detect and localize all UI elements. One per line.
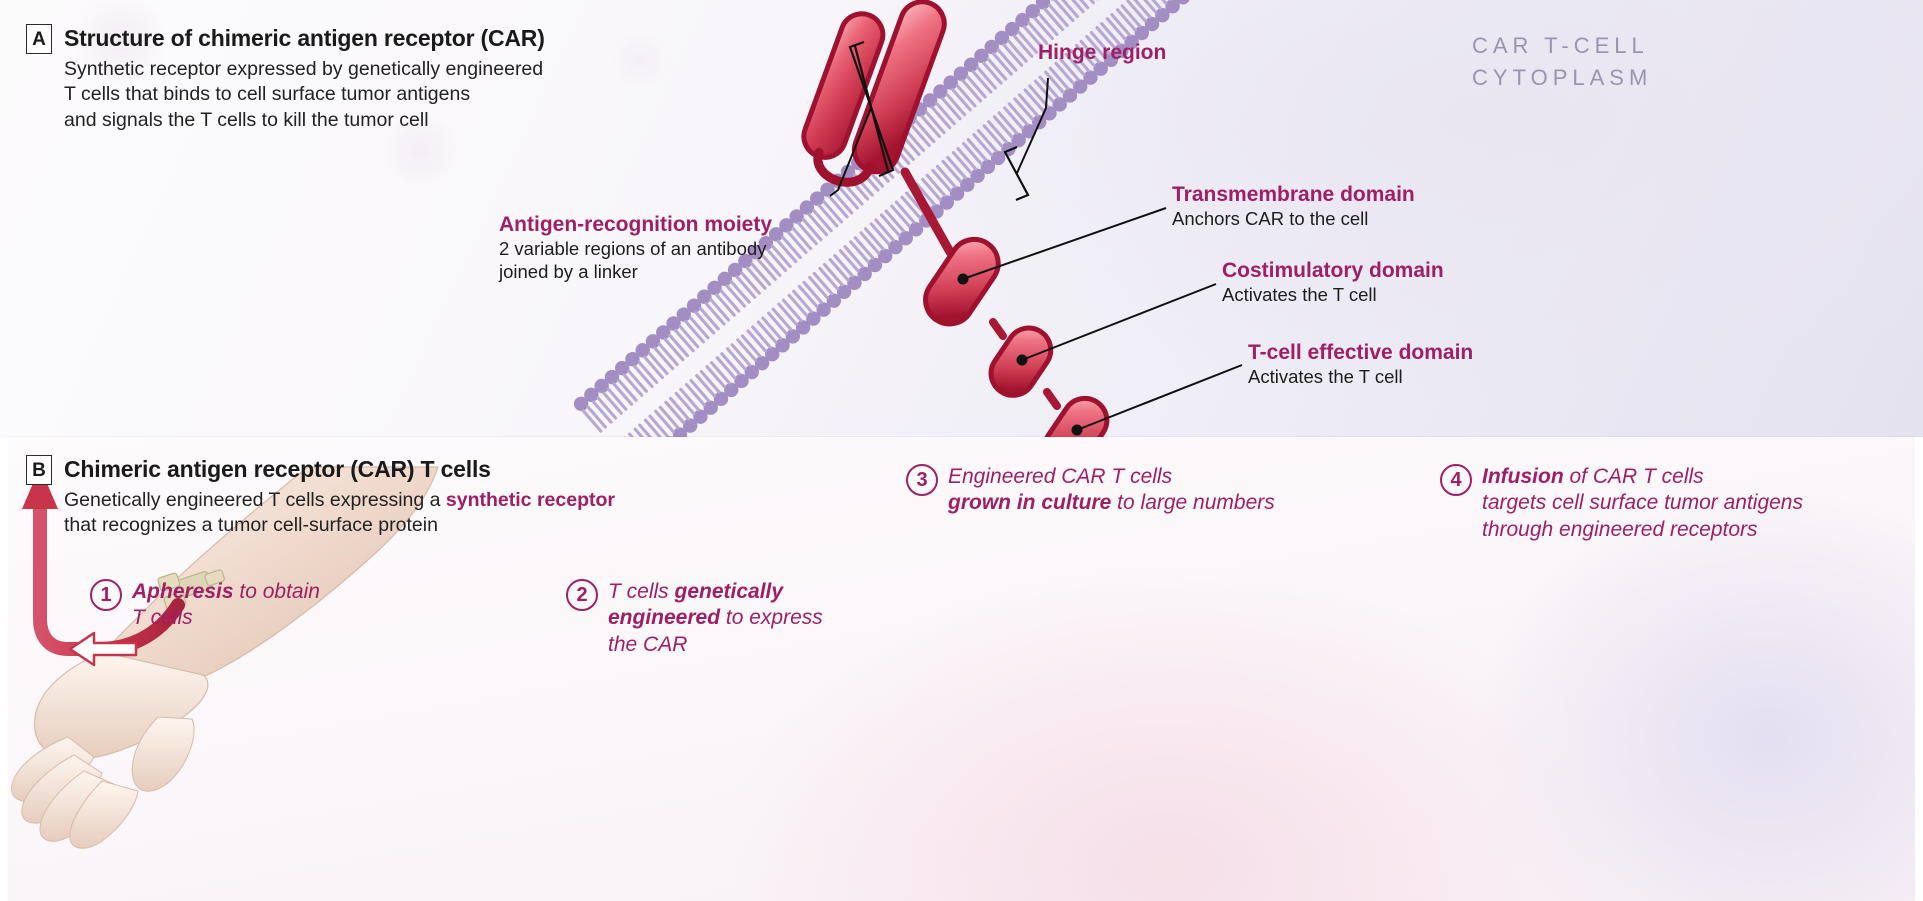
panel-b-subtitle: Genetically engineered T cells expressin… <box>64 488 615 539</box>
callout-antigen-sub-line-2: joined by a linker <box>499 260 772 283</box>
step-2-text: T cells genetically engineered to expres… <box>608 579 823 658</box>
step-3-culture-expansion: 3 Engineered CAR T cells grown in cultur… <box>906 464 1275 517</box>
callout-effective-sub: Activates the T cell <box>1248 365 1473 388</box>
cytoplasm-label-line-1: CAR T-CELL <box>1472 30 1652 62</box>
panel-a-subtitle-line-1: Synthetic receptor expressed by genetica… <box>64 57 545 83</box>
panel-a-heading: A Structure of chimeric antigen receptor… <box>26 24 545 134</box>
panel-b-subtitle-pre: Genetically engineered T cells expressin… <box>64 489 446 511</box>
step-1-text: Apheresis to obtain T cells <box>132 579 320 632</box>
panel-b-subtitle-highlight: synthetic receptor <box>446 489 615 511</box>
step-3-pre: Engineered CAR T cells <box>948 465 1172 488</box>
step-2-number: 2 <box>566 579 598 611</box>
step-3-text: Engineered CAR T cells grown in culture … <box>948 464 1275 517</box>
panel-a-title: Structure of chimeric antigen receptor (… <box>64 24 545 53</box>
step-4-text: Infusion of CAR T cells targets cell sur… <box>1482 464 1803 543</box>
panel-a-badge: A <box>26 24 52 54</box>
panel-b-subtitle-line-2: that recognizes a tumor cell-surface pro… <box>64 513 615 539</box>
callout-tcell-effective-domain: T-cell effective domain Activates the T … <box>1248 340 1473 388</box>
panel-a-subtitle-line-3: and signals the T cells to kill the tumo… <box>64 108 545 134</box>
panel-b-heading: B Chimeric antigen receptor (CAR) T cell… <box>26 455 615 539</box>
panel-b-badge: B <box>26 455 52 485</box>
panel-b: B Chimeric antigen receptor (CAR) T cell… <box>8 437 1915 901</box>
panel-a-subtitle-line-2: T cells that binds to cell surface tumor… <box>64 82 545 108</box>
step-2-genetic-engineering: 2 T cells genetically engineered to expr… <box>566 579 823 658</box>
step-3-bold: grown in culture <box>948 491 1111 514</box>
callout-effective-title: T-cell effective domain <box>1248 340 1473 365</box>
callout-antigen-sub-line-1: 2 variable regions of an antibody <box>499 237 772 260</box>
callout-costimulatory-title: Costimulatory domain <box>1222 258 1444 283</box>
callout-antigen-recognition-moiety: Antigen-recognition moiety 2 variable re… <box>499 212 772 283</box>
cytoplasm-label-line-2: CYTOPLASM <box>1472 62 1652 94</box>
step-3-number: 3 <box>906 464 938 496</box>
panel-a-subtitle: Synthetic receptor expressed by genetica… <box>64 57 545 134</box>
callout-costimulatory-sub: Activates the T cell <box>1222 283 1444 306</box>
callout-transmembrane-sub: Anchors CAR to the cell <box>1172 207 1415 230</box>
callout-hinge-region: Hinge region <box>1038 40 1166 65</box>
callout-hinge-title: Hinge region <box>1038 40 1166 65</box>
callout-transmembrane-domain: Transmembrane domain Anchors CAR to the … <box>1172 182 1415 230</box>
step-1-bold: Apheresis <box>132 580 234 603</box>
step-4-infusion: 4 Infusion of CAR T cells targets cell s… <box>1440 464 1803 543</box>
step-4-bold: Infusion <box>1482 465 1564 488</box>
callout-antigen-title: Antigen-recognition moiety <box>499 212 772 237</box>
step-1-number: 1 <box>90 579 122 611</box>
step-1-apheresis: 1 Apheresis to obtain T cells <box>90 579 320 632</box>
panel-a: A Structure of chimeric antigen receptor… <box>0 0 1923 437</box>
callout-transmembrane-title: Transmembrane domain <box>1172 182 1415 207</box>
step-2-pre: T cells <box>608 580 675 603</box>
callout-costimulatory-domain: Costimulatory domain Activates the T cel… <box>1222 258 1444 306</box>
cytoplasm-label: CAR T-CELL CYTOPLASM <box>1472 30 1652 94</box>
step-4-number: 4 <box>1440 464 1472 496</box>
panel-b-title: Chimeric antigen receptor (CAR) T cells <box>64 455 615 484</box>
panel-b-subtitle-line-1: Genetically engineered T cells expressin… <box>64 488 615 514</box>
step-3-rest: to large numbers <box>1111 491 1274 514</box>
